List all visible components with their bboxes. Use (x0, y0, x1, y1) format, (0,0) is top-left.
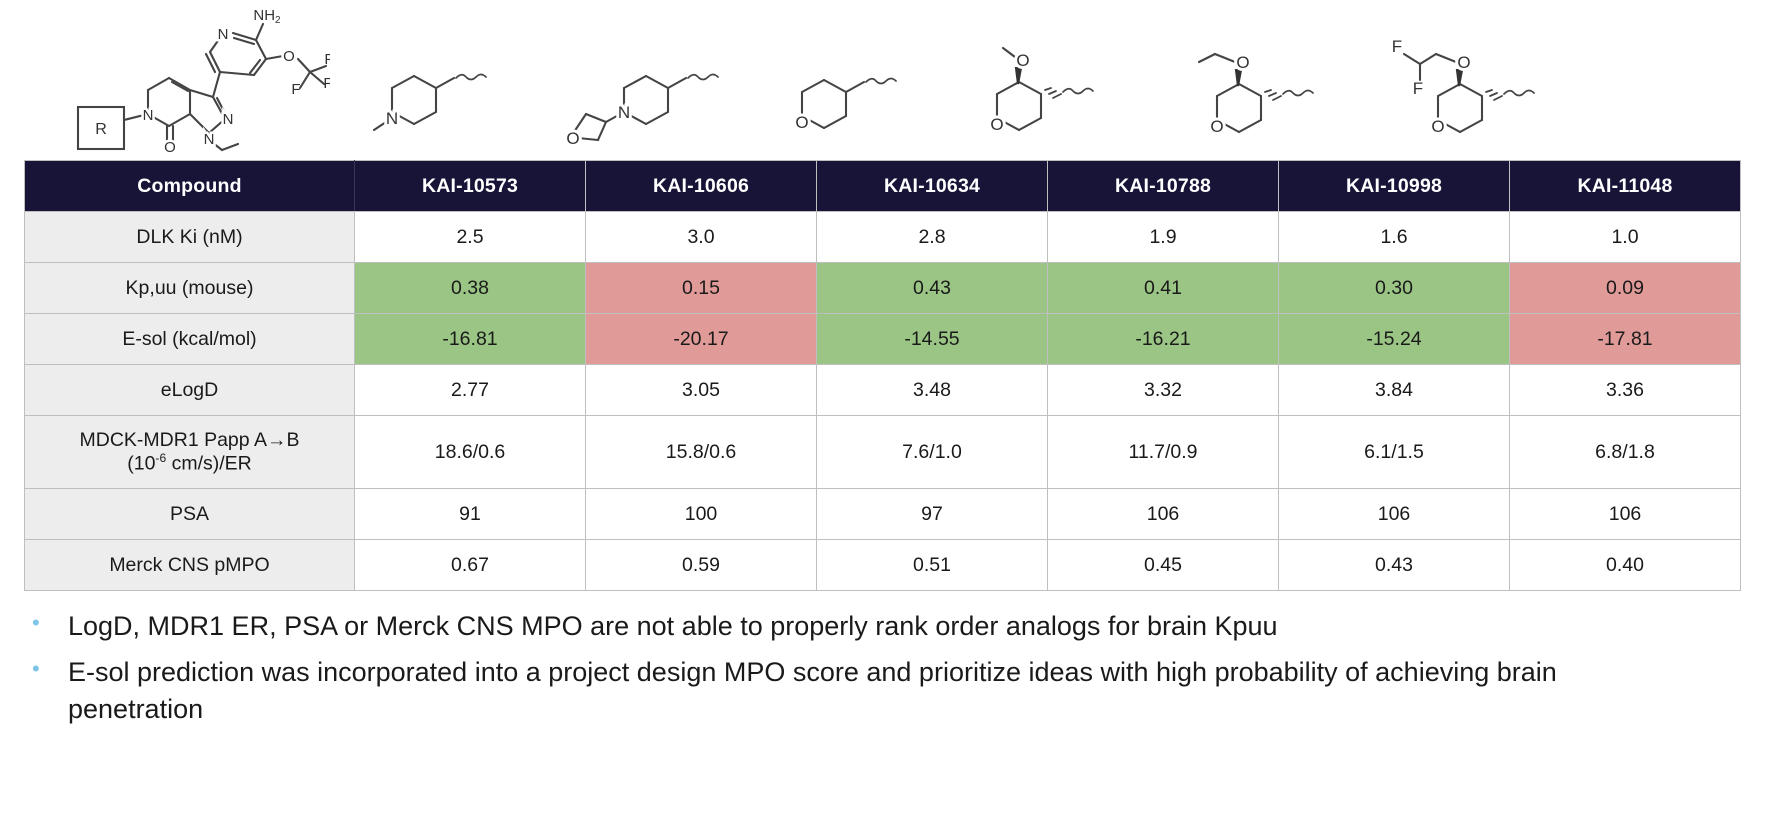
cell-r3-c0: 2.77 (355, 365, 586, 416)
list-item: • LogD, MDR1 ER, PSA or Merck CNS MPO ar… (24, 608, 1724, 644)
column-header-kai-10606: KAI-10606 (586, 161, 817, 212)
label-NH2: NH2 (253, 7, 281, 26)
label-O: O (566, 129, 579, 148)
bullet-text: E-sol prediction was incorporated into a… (68, 654, 1668, 727)
cell-r4-c5: 6.8/1.8 (1510, 416, 1741, 489)
label-F2: F (1413, 79, 1423, 98)
cell-r2-c5: -17.81 (1510, 314, 1741, 365)
row-header-4: MDCK-MDR1 Papp A→B(10-6 cm/s)/ER (25, 416, 355, 489)
list-item: • E-sol prediction was incorporated into… (24, 654, 1724, 727)
column-header-compound: Compound (25, 161, 355, 212)
cell-r1-c4: 0.30 (1279, 263, 1510, 314)
cell-r6-c0: 0.67 (355, 540, 586, 591)
label-O-ether: O (1457, 53, 1470, 72)
row-header-6: Merck CNS pMPO (25, 540, 355, 591)
label-F1: F (1392, 37, 1402, 56)
structure-strip: R N N N N N N O O N N O O NH2 F F F (0, 0, 1769, 160)
cell-r5-c5: 106 (1510, 489, 1741, 540)
table-row: Merck CNS pMPO0.670.590.510.450.430.40 (25, 540, 1741, 591)
column-header-kai-10998: KAI-10998 (1279, 161, 1510, 212)
label-O-ring: O (1210, 117, 1223, 136)
structure-rgroup-n-methylpiperidine: N N (370, 52, 490, 152)
row-header-1: Kp,uu (mouse) (25, 263, 355, 314)
label-N: N (618, 103, 630, 122)
cell-r3-c2: 3.48 (817, 365, 1048, 416)
table-row: PSA9110097106106106 (25, 489, 1741, 540)
cell-r1-c3: 0.41 (1048, 263, 1279, 314)
bullet-list: • LogD, MDR1 ER, PSA or Merck CNS MPO ar… (24, 608, 1724, 737)
compound-data-table: Compound KAI-10573 KAI-10606 KAI-10634 K… (24, 160, 1741, 591)
cell-r5-c3: 106 (1048, 489, 1279, 540)
cell-r3-c1: 3.05 (586, 365, 817, 416)
label-O: O (795, 113, 808, 132)
cell-r3-c3: 3.32 (1048, 365, 1279, 416)
label-F3: F (291, 81, 300, 98)
label-O-ethoxy: O (1236, 53, 1249, 72)
label-N-pyrazole-1: N (204, 131, 215, 148)
label-R: R (95, 121, 107, 138)
label-N: N (386, 109, 398, 128)
cell-r1-c1: 0.15 (586, 263, 817, 314)
label-F2: F (323, 75, 330, 92)
slide-root: R N N N N N N O O N N O O NH2 F F F (0, 0, 1769, 823)
cell-r5-c4: 106 (1279, 489, 1510, 540)
row-header-2: E-sol (kcal/mol) (25, 314, 355, 365)
label-N-pyrazole-2: N (223, 111, 234, 128)
label-N-pyridine: N (218, 26, 229, 43)
cell-r6-c4: 0.43 (1279, 540, 1510, 591)
column-header-kai-10788: KAI-10788 (1048, 161, 1279, 212)
compound-data-table-wrapper: Compound KAI-10573 KAI-10606 KAI-10634 K… (24, 160, 1740, 591)
label-O-ether: O (283, 48, 295, 65)
label-N-lactam: N (143, 107, 154, 124)
cell-r2-c4: -15.24 (1279, 314, 1510, 365)
row-header-5: PSA (25, 489, 355, 540)
column-header-kai-10634: KAI-10634 (817, 161, 1048, 212)
structure-rgroup-tetrahydropyran: O O (780, 58, 900, 153)
row-header-3: eLogD (25, 365, 355, 416)
cell-r4-c0: 18.6/0.6 (355, 416, 586, 489)
table-header-row: Compound KAI-10573 KAI-10606 KAI-10634 K… (25, 161, 1741, 212)
cell-r1-c2: 0.43 (817, 263, 1048, 314)
table-body: DLK Ki (nM)2.53.02.81.91.61.0Kp,uu (mous… (25, 212, 1741, 591)
cell-r2-c0: -16.81 (355, 314, 586, 365)
cell-r6-c3: 0.45 (1048, 540, 1279, 591)
cell-r0-c0: 2.5 (355, 212, 586, 263)
structure-rgroup-ethoxy-thp: O O O O (1185, 28, 1335, 156)
cell-r3-c4: 3.84 (1279, 365, 1510, 416)
cell-r6-c2: 0.51 (817, 540, 1048, 591)
structure-core-scaffold: R N N N N N N O O N N O O NH2 F F F (70, 2, 330, 154)
cell-r0-c2: 2.8 (817, 212, 1048, 263)
cell-r3-c5: 3.36 (1510, 365, 1741, 416)
cell-r0-c5: 1.0 (1510, 212, 1741, 263)
label-O-ring: O (1431, 117, 1444, 136)
row-header-0: DLK Ki (nM) (25, 212, 355, 263)
table-row: eLogD2.773.053.483.323.843.36 (25, 365, 1741, 416)
table-row: MDCK-MDR1 Papp A→B(10-6 cm/s)/ER18.6/0.6… (25, 416, 1741, 489)
cell-r2-c2: -14.55 (817, 314, 1048, 365)
cell-r5-c0: 91 (355, 489, 586, 540)
label-O-carbonyl: O (164, 139, 176, 154)
table-row: Kp,uu (mouse)0.380.150.430.410.300.09 (25, 263, 1741, 314)
bullet-marker-icon: • (24, 608, 68, 638)
cell-r2-c1: -20.17 (586, 314, 817, 365)
cell-r5-c2: 97 (817, 489, 1048, 540)
cell-r4-c2: 7.6/1.0 (817, 416, 1048, 489)
cell-r4-c1: 15.8/0.6 (586, 416, 817, 489)
label-O-ring: O (990, 115, 1003, 134)
cell-r2-c3: -16.21 (1048, 314, 1279, 365)
cell-r0-c1: 3.0 (586, 212, 817, 263)
cell-r1-c5: 0.09 (1510, 263, 1741, 314)
cell-r4-c3: 11.7/0.9 (1048, 416, 1279, 489)
structure-rgroup-oxetanyl-piperidine: O O N N (560, 48, 720, 153)
bullet-marker-icon: • (24, 654, 68, 684)
cell-r4-c4: 6.1/1.5 (1279, 416, 1510, 489)
cell-r6-c5: 0.40 (1510, 540, 1741, 591)
label-F1: F (324, 51, 330, 68)
table-head: Compound KAI-10573 KAI-10606 KAI-10634 K… (25, 161, 1741, 212)
column-header-kai-11048: KAI-11048 (1510, 161, 1741, 212)
cell-r0-c3: 1.9 (1048, 212, 1279, 263)
label-O-methoxy: O (1016, 51, 1029, 70)
table-row: DLK Ki (nM)2.53.02.81.91.61.0 (25, 212, 1741, 263)
cell-r6-c1: 0.59 (586, 540, 817, 591)
cell-r5-c1: 100 (586, 489, 817, 540)
cell-r1-c0: 0.38 (355, 263, 586, 314)
cell-r0-c4: 1.6 (1279, 212, 1510, 263)
table-row: E-sol (kcal/mol)-16.81-20.17-14.55-16.21… (25, 314, 1741, 365)
column-header-kai-10573: KAI-10573 (355, 161, 586, 212)
structure-rgroup-methoxy-thp: O O O O (975, 30, 1110, 155)
bullet-text: LogD, MDR1 ER, PSA or Merck CNS MPO are … (68, 608, 1278, 644)
structure-rgroup-difluoroethoxy-thp: O O O O F F (1382, 22, 1557, 157)
